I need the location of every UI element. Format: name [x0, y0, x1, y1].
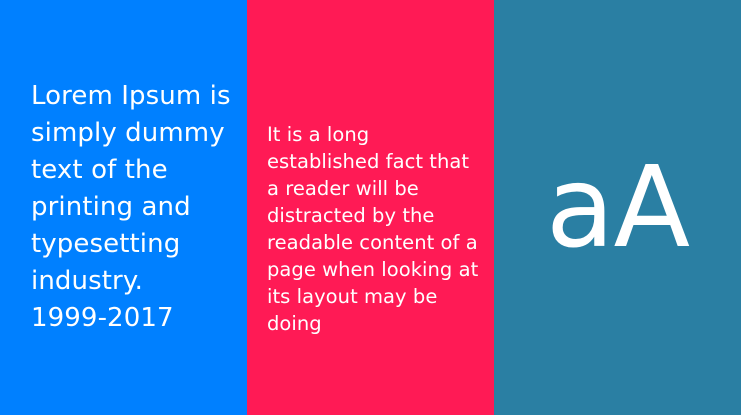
middle-panel-paragraph: It is a long established fact that a rea… [267, 121, 481, 337]
font-glyph-sample: aA [494, 0, 741, 415]
middle-panel-red: It is a long established fact that a rea… [247, 0, 494, 415]
right-panel-teal: aA [494, 0, 741, 415]
left-panel-paragraph: Lorem Ipsum is simply dummy text of the … [31, 78, 236, 337]
left-panel-blue: Lorem Ipsum is simply dummy text of the … [0, 0, 247, 415]
slide-canvas: Lorem Ipsum is simply dummy text of the … [0, 0, 741, 415]
